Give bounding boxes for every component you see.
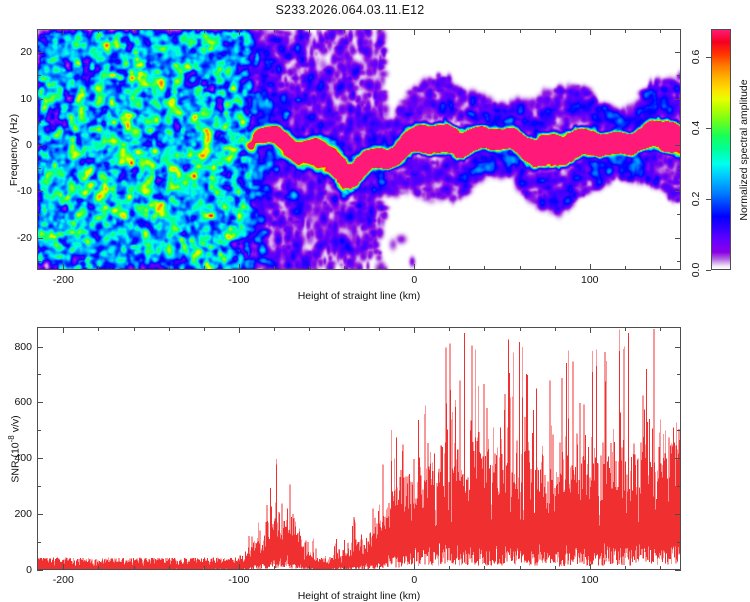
y-tick-label: 0 [1,564,32,576]
x-tick [625,29,626,33]
x-tick [274,266,275,270]
spectrogram-panel [37,29,681,270]
y-tick [675,145,681,146]
x-tick [484,327,485,331]
y-tick [677,430,681,431]
y-tick [677,75,681,76]
x-tick [344,566,345,570]
x-tick [169,327,170,331]
x-tick [63,327,64,333]
x-tick-label: -100 [228,574,249,586]
x-tick [309,266,310,270]
y-tick [37,402,43,403]
x-tick [98,29,99,33]
x-tick-label: -200 [53,274,74,286]
x-tick [449,566,450,570]
x-tick [98,266,99,270]
colorbar-tick-label: 0.0 [690,263,702,278]
y-tick-label: 600 [1,396,32,408]
x-tick [660,327,661,331]
x-tick [449,29,450,33]
x-tick [169,566,170,570]
snr-trace [38,328,681,570]
x-tick [660,566,661,570]
y-tick [677,214,681,215]
snr-y-axis-label: SNR (10-8 v/v) [7,415,22,482]
y-tick [675,514,681,515]
y-tick-label: -20 [1,232,32,244]
x-tick [484,566,485,570]
y-tick [37,214,41,215]
y-tick [37,374,41,375]
x-tick [344,327,345,331]
y-tick [675,347,681,348]
x-tick [520,566,521,570]
y-tick-label: 10 [1,93,32,105]
x-tick [555,566,556,570]
x-tick [344,266,345,270]
x-tick [204,29,205,33]
colorbar [711,29,731,270]
snr-y-label-exponent: -8 [7,435,16,442]
x-tick [414,264,415,270]
x-tick [379,566,380,570]
colorbar-tick [706,57,711,58]
y-tick [37,168,41,169]
colorbar-tick-label: 0.4 [690,121,702,136]
y-tick [677,542,681,543]
y-tick [37,514,43,515]
y-tick [37,458,43,459]
y-tick [675,402,681,403]
x-tick [204,266,205,270]
x-tick [309,566,310,570]
x-tick [555,327,556,331]
x-tick [414,564,415,570]
x-tick [625,566,626,570]
y-tick-label: 200 [1,508,32,520]
snr-x-axis-label: Height of straight line (km) [298,590,421,602]
snr-panel [37,327,681,570]
x-tick [520,266,521,270]
x-tick [555,266,556,270]
colorbar-label: Normalized spectral amplitude [738,79,750,220]
x-tick [590,327,591,333]
x-tick [239,327,240,333]
y-tick [37,99,43,100]
x-tick [98,566,99,570]
x-tick [309,327,310,331]
x-tick [660,29,661,33]
x-tick [239,564,240,570]
x-tick [660,266,661,270]
colorbar-tick [706,270,711,271]
x-tick [63,264,64,270]
x-tick [134,29,135,33]
x-tick-label: -200 [53,574,74,586]
x-tick [98,327,99,331]
y-tick [37,122,41,123]
x-tick-label: 0 [411,274,417,286]
x-tick [484,266,485,270]
y-tick [37,542,41,543]
x-tick [555,29,556,33]
x-tick [134,266,135,270]
x-tick [449,327,450,331]
y-tick [677,374,681,375]
y-tick [677,122,681,123]
x-tick [590,264,591,270]
colorbar-gradient [712,30,730,269]
y-tick [37,261,41,262]
x-tick-label: -100 [228,274,249,286]
x-tick-label: 100 [581,274,599,286]
x-tick [239,264,240,270]
x-tick [344,29,345,33]
x-tick [414,327,415,333]
spectrogram-image [38,30,681,270]
y-tick-label: 20 [1,46,32,58]
x-tick [379,266,380,270]
y-tick [37,52,43,53]
colorbar-tick-label: 0.2 [690,192,702,207]
x-tick [625,327,626,331]
x-tick [590,29,591,35]
x-tick [134,327,135,331]
x-tick [274,566,275,570]
snr-y-label-tail: v/v) [9,415,21,435]
y-tick [677,261,681,262]
x-tick [379,327,380,331]
y-tick [37,191,43,192]
y-tick-label: 800 [1,341,32,353]
x-tick [204,566,205,570]
x-tick [520,327,521,331]
x-tick-label: 0 [411,574,417,586]
x-tick [484,29,485,33]
x-tick [134,566,135,570]
y-tick-label: -10 [1,185,32,197]
y-tick [677,486,681,487]
x-tick [379,29,380,33]
y-tick [675,99,681,100]
y-tick [675,191,681,192]
y-tick [675,458,681,459]
y-tick [37,347,43,348]
y-tick [675,238,681,239]
page-title: S233.2026.064.03.11.E12 [0,3,700,17]
x-tick-label: 100 [581,574,599,586]
colorbar-tick [706,199,711,200]
y-tick [37,238,43,239]
y-tick [37,570,43,571]
y-tick [675,52,681,53]
y-tick [677,168,681,169]
x-tick [625,266,626,270]
y-tick [37,75,41,76]
colorbar-tick [706,128,711,129]
x-tick [414,29,415,35]
figure-root: S233.2026.064.03.11.E12 -200-10001002010… [0,0,750,600]
y-tick [37,145,43,146]
x-tick [274,29,275,33]
x-tick [274,327,275,331]
spectrogram-x-axis-label: Height of straight line (km) [298,290,421,302]
y-tick [675,570,681,571]
spectrogram-y-axis-label: Frequency (Hz) [8,113,20,185]
x-tick [590,564,591,570]
x-tick [169,29,170,33]
y-tick [37,486,41,487]
y-tick [37,430,41,431]
x-tick [63,564,64,570]
x-tick [63,29,64,35]
x-tick [169,266,170,270]
x-tick [204,327,205,331]
x-tick [239,29,240,35]
snr-y-label-main: SNR (10 [9,442,21,482]
colorbar-tick-label: 0.6 [690,50,702,65]
x-tick [449,266,450,270]
x-tick [520,29,521,33]
x-tick [309,29,310,33]
